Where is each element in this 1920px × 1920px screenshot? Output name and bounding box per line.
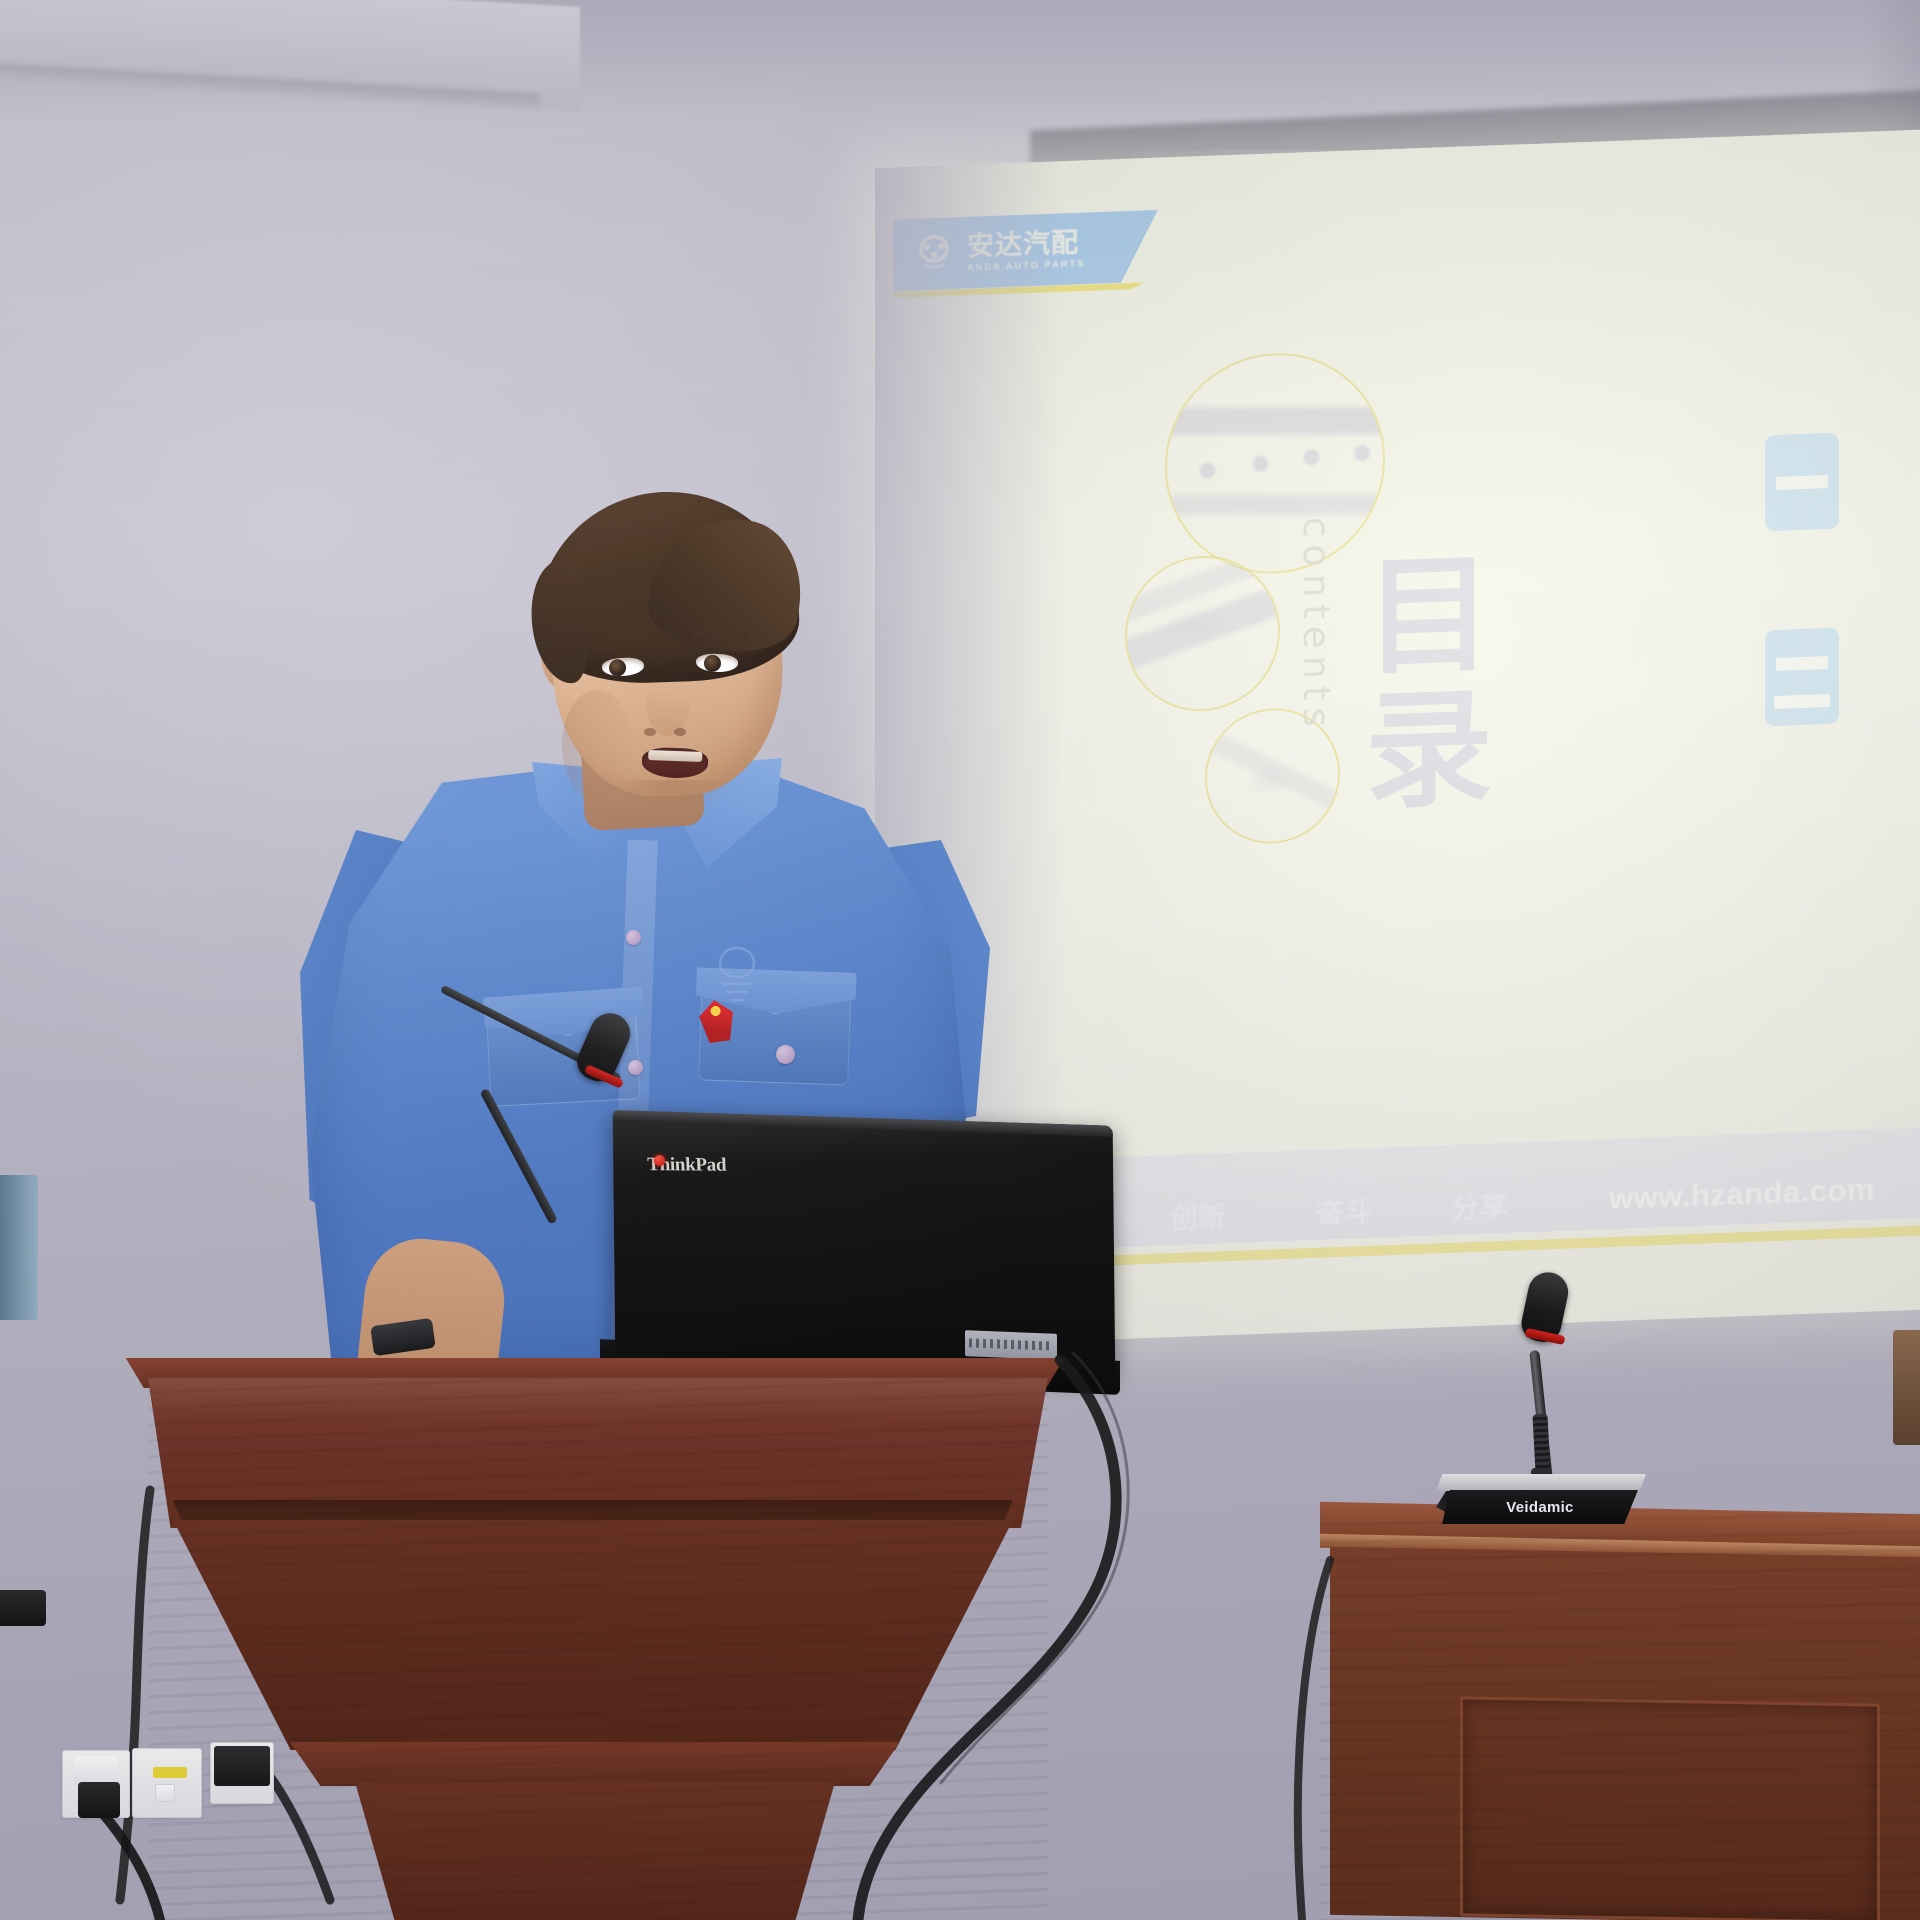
slogan-cn: 创新 (1170, 1195, 1226, 1237)
podium-column (345, 1782, 845, 1920)
slide-heading-en: contents (1295, 516, 1338, 735)
shirt-button (628, 1060, 643, 1075)
slogan-item: INNOVATION 创新 (1157, 1180, 1238, 1238)
wall-light-switch[interactable] (132, 1748, 202, 1818)
microphone-base-unit[interactable]: Veidamic (1436, 1474, 1646, 1528)
presentation-photo-scene: 安达汽配 ANDA AUTO PARTS contents 目录 (0, 0, 1920, 1920)
intake-manifold-photo (1125, 553, 1280, 714)
engine-cylinder-head-photo (1165, 349, 1385, 577)
trefoil-logo-icon (911, 230, 957, 278)
slogan-en: STRIVING (1312, 1175, 1375, 1189)
slogan-item: SHARING 分享 (1449, 1170, 1510, 1227)
part-circle-manifold (1125, 553, 1280, 714)
slide-heading-cn: 目录 (1345, 546, 1488, 819)
left-wall-bracket (0, 1590, 46, 1626)
shirt-button (626, 930, 641, 945)
left-wall-fixture (0, 1175, 38, 1320)
microphone-base-top-plate (1436, 1474, 1646, 1491)
shirt-pocket-button (776, 1045, 795, 1064)
plug-black (78, 1782, 120, 1818)
iris-right (704, 655, 722, 673)
slide-numeral-two (1765, 628, 1839, 727)
part-circle-engine-head (1165, 349, 1385, 577)
far-right-object (1893, 1330, 1920, 1445)
thinkpad-red-dot-icon (654, 1155, 665, 1166)
laptop-asset-sticker (965, 1330, 1057, 1360)
nostril-left (644, 728, 656, 736)
nose (646, 670, 690, 736)
microphone-brand-label: Veidamic (1506, 1499, 1573, 1516)
switch-rocker[interactable] (155, 1784, 175, 1802)
microphone-base-face: Veidamic (1442, 1490, 1638, 1524)
teeth (648, 750, 702, 762)
switch-indicator-label (153, 1767, 187, 1778)
slogan-separator: · (1117, 1213, 1123, 1239)
wall-socket-recess (214, 1746, 270, 1786)
iris-left (609, 659, 627, 677)
slogan-en: INNOVATION (1157, 1180, 1238, 1195)
podium-desktop-sheen (148, 1378, 1048, 1424)
chin-shading (606, 780, 736, 810)
slide-brand-banner: 安达汽配 ANDA AUTO PARTS (893, 210, 1158, 292)
slogan-cn: 分享 (1451, 1185, 1507, 1227)
slogan-separator: · (1409, 1202, 1415, 1228)
side-desk-panel (1460, 1696, 1880, 1920)
slogan-en: SHARING (1449, 1170, 1510, 1184)
slogan-cn: 奋斗 (1316, 1190, 1372, 1232)
brand-text: 安达汽配 ANDA AUTO PARTS (967, 229, 1086, 272)
company-embroidered-logo (700, 940, 774, 1008)
slide-numeral-one (1765, 433, 1839, 532)
podium-body (173, 1520, 1013, 1750)
brand-name-cn: 安达汽配 (967, 229, 1086, 260)
podium-shelf (290, 1742, 900, 1786)
nostril-right (674, 728, 686, 736)
slogan-separator: · (1272, 1207, 1278, 1233)
desk-microphone-knurled-section (1532, 1414, 1550, 1475)
slogan-item: STRIVING 奋斗 (1312, 1175, 1375, 1232)
